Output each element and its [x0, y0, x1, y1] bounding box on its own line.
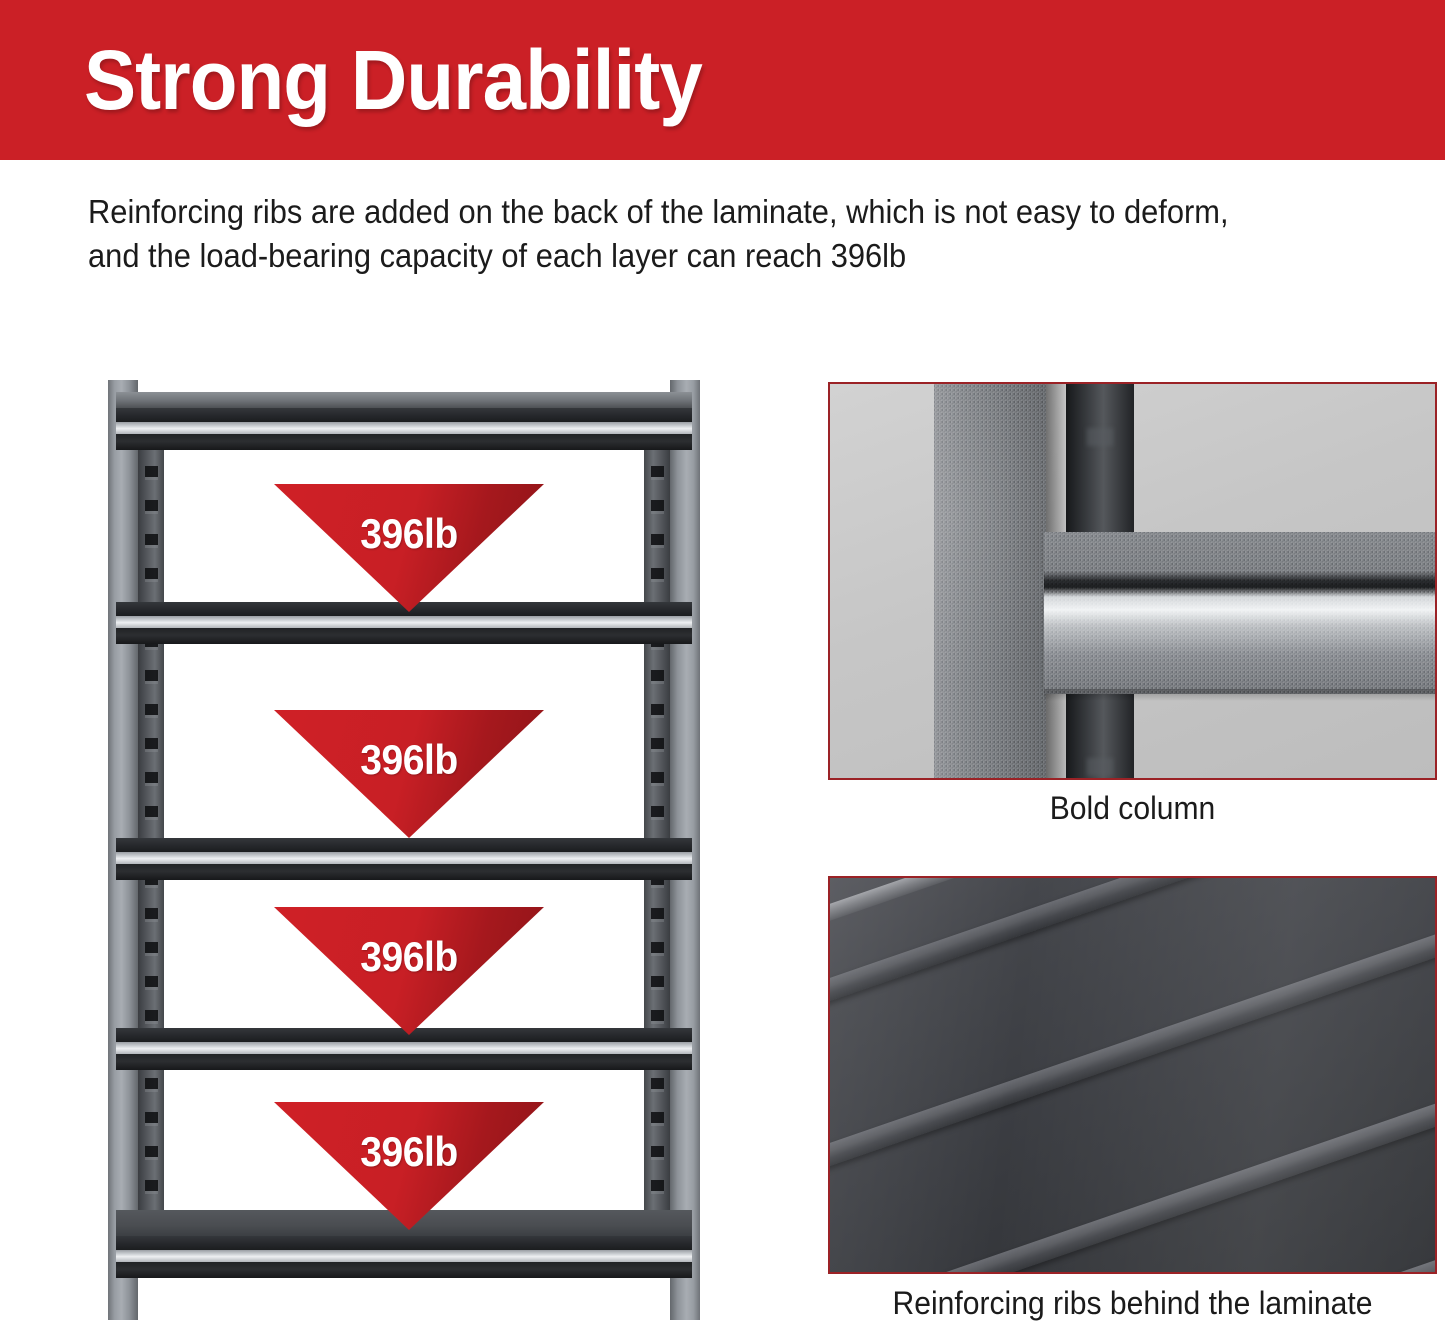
- load-badge: 396lb: [274, 1102, 544, 1230]
- shelf-beam: [116, 408, 692, 450]
- reinforcing-rib: [828, 897, 1437, 1211]
- photo-card-bold-column: [828, 382, 1437, 780]
- photo-frame: [828, 382, 1437, 780]
- photo-card-reinforcing-ribs: [828, 876, 1437, 1274]
- shelf-beam: [116, 838, 692, 880]
- photo-frame: [828, 876, 1437, 1274]
- page-title: Strong Durability: [84, 38, 702, 122]
- badge-label: 396lb: [283, 736, 534, 784]
- header-banner: Strong Durability: [0, 0, 1445, 160]
- photo-caption-reinforcing-ribs: Reinforcing ribs behind the laminate: [846, 1285, 1418, 1322]
- load-badge: 396lb: [274, 710, 544, 838]
- badge-label: 396lb: [283, 510, 534, 558]
- reinforcing-rib: [828, 1188, 1437, 1274]
- shelf-beam: [116, 1236, 692, 1278]
- rack-top-cap: [116, 392, 692, 408]
- badge-label: 396lb: [283, 1128, 534, 1176]
- photo-caption-bold-column: Bold column: [846, 790, 1418, 827]
- infographic-page: Strong Durability Reinforcing ribs are a…: [0, 0, 1445, 1339]
- load-badge: 396lb: [274, 907, 544, 1035]
- beam-shadow: [1044, 689, 1437, 701]
- cross-beam: [1044, 532, 1437, 694]
- intro-paragraph: Reinforcing ribs are added on the back o…: [88, 190, 1257, 278]
- load-badge: 396lb: [274, 484, 544, 612]
- laminate-panel-underside: [828, 876, 1437, 1274]
- bold-column: [934, 382, 1046, 780]
- badge-label: 396lb: [283, 933, 534, 981]
- reinforcing-rib: [828, 1048, 1437, 1274]
- shelving-unit-illustration: 396lb 396lb 396lb 396lb: [104, 380, 704, 1320]
